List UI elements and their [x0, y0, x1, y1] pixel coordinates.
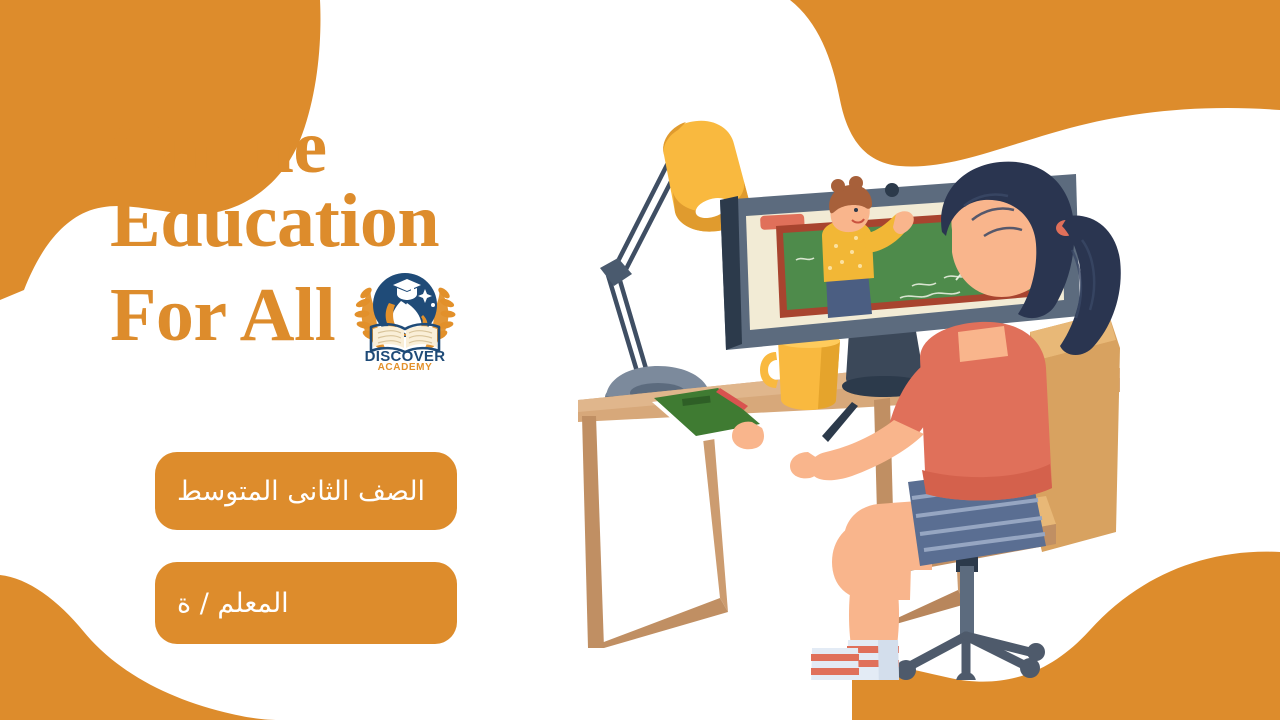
webcam-icon: [885, 183, 899, 197]
headline-line-3-row: For All: [110, 259, 540, 371]
headline-line-3: For All: [110, 278, 335, 352]
discover-academy-logo: DISCOVER ACADEMY: [349, 259, 461, 371]
teacher-pill[interactable]: المعلم / ة: [155, 562, 457, 644]
student-online-class-illustration: ةلأ: [560, 100, 1180, 680]
slide-canvas: ةلأ: [0, 0, 1280, 720]
grade-pill[interactable]: الصف الثانى المتوسط: [155, 452, 457, 530]
headline-line-1: Online: [110, 110, 540, 184]
teacher-pill-label: المعلم / ة: [177, 588, 289, 619]
logo-secondary-text: ACADEMY: [378, 362, 433, 371]
headline-block: Online Education For All: [110, 110, 540, 371]
grade-pill-label: الصف الثانى المتوسط: [177, 476, 425, 507]
headline-line-2: Education: [110, 184, 540, 258]
